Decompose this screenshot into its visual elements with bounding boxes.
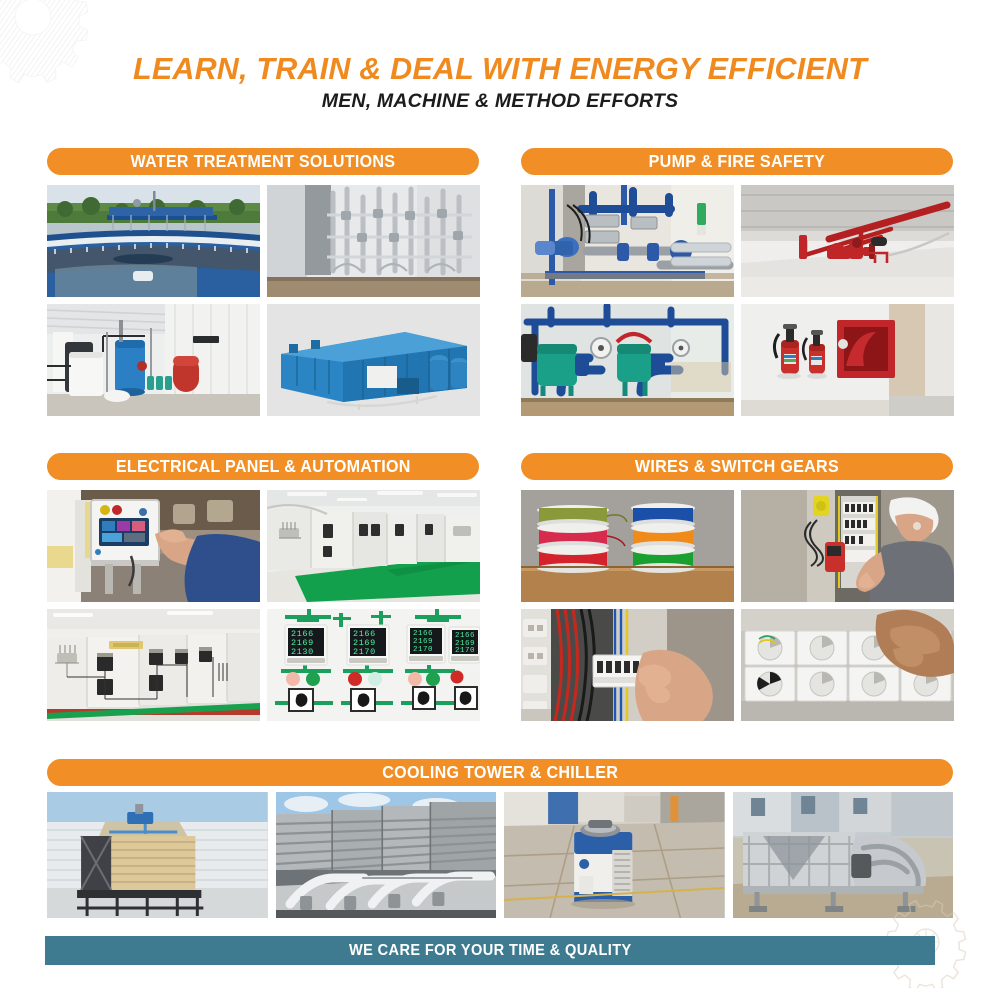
section-banner-cooling-tower-and-chiller[interactable]: COOLING TOWER & CHILLER [47,759,953,786]
svg-text:2170: 2170 [353,647,376,657]
photo-grid-wires-and-switch-gears [521,490,954,721]
photo-green-inline-pumps [521,304,734,416]
svg-text:2166: 2166 [455,632,475,640]
photo-mcc-panel-lineup [47,609,260,721]
photo-hand-installing-mcb [521,609,734,721]
section-banner-label: WIRES & SWITCH GEARS [635,456,839,477]
photo-grid-cooling-tower-and-chiller [47,792,953,918]
photo-wall-switches-sockets [741,609,954,721]
svg-text:2130: 2130 [291,647,314,657]
photo-cable-spools-colored [521,490,734,602]
section-banner-wires-and-switch-gears[interactable]: WIRES & SWITCH GEARS [521,453,953,480]
page-title: LEARN, TRAIN & DEAL WITH ENERGY EFFICIEN… [0,52,1000,86]
photo-digital-multifunction-meters: 216621692130 216621692170 216621692170 2… [267,609,480,721]
photo-ro-skid-piping [267,185,480,297]
photo-grid-water-treatment-solutions [47,185,480,416]
photo-electrician-testing-distribution-board [741,490,954,602]
svg-text:2169: 2169 [413,638,433,646]
section-banner-electrical-panel-and-automation[interactable]: ELECTRICAL PANEL & AUTOMATION [47,453,479,480]
section-banner-label: PUMP & FIRE SAFETY [649,151,825,172]
photo-grid-pump-and-fire-safety [521,185,954,416]
brochure-page: LEARN, TRAIN & DEAL WITH ENERGY EFFICIEN… [0,0,1000,1000]
photo-grid-electrical-panel-and-automation: 216621692130 216621692170 216621692170 2… [47,490,480,721]
photo-clarifier-tank [47,185,260,297]
photo-switchgear-room-green-floor [267,490,480,602]
photo-red-fire-sprinkler-header [741,185,954,297]
page-subtitle: MEN, MACHINE & METHOD EFFORTS [0,90,1000,113]
photo-fire-extinguishers-hose-cabinet [741,304,954,416]
svg-text:2170: 2170 [455,647,475,655]
footer-tagline-bar: WE CARE FOR YOUR TIME & QUALITY [45,936,935,965]
photo-packaged-air-cooled-chiller [504,792,725,918]
section-banner-pump-and-fire-safety[interactable]: PUMP & FIRE SAFETY [521,148,953,175]
svg-text:2166: 2166 [413,630,433,638]
section-banner-label: ELECTRICAL PANEL & AUTOMATION [116,456,411,477]
photo-operator-hmi-touch-panel [47,490,260,602]
photo-water-softener-plant-room [47,304,260,416]
photo-blue-pump-valve-manifold [521,185,734,297]
footer-tagline: WE CARE FOR YOUR TIME & QUALITY [349,942,632,960]
photo-frp-cooling-tower [47,792,268,918]
photo-blue-etp-package-unit [267,304,480,416]
photo-cooling-tower-bank-piping [276,792,497,918]
svg-text:2170: 2170 [413,646,433,654]
section-banner-label: WATER TREATMENT SOLUTIONS [131,151,396,172]
page-header: LEARN, TRAIN & DEAL WITH ENERGY EFFICIEN… [0,52,1000,113]
section-banner-water-treatment-solutions[interactable]: WATER TREATMENT SOLUTIONS [47,148,479,175]
photo-skid-mounted-chiller-unit [733,792,954,918]
section-banner-label: COOLING TOWER & CHILLER [382,762,618,783]
